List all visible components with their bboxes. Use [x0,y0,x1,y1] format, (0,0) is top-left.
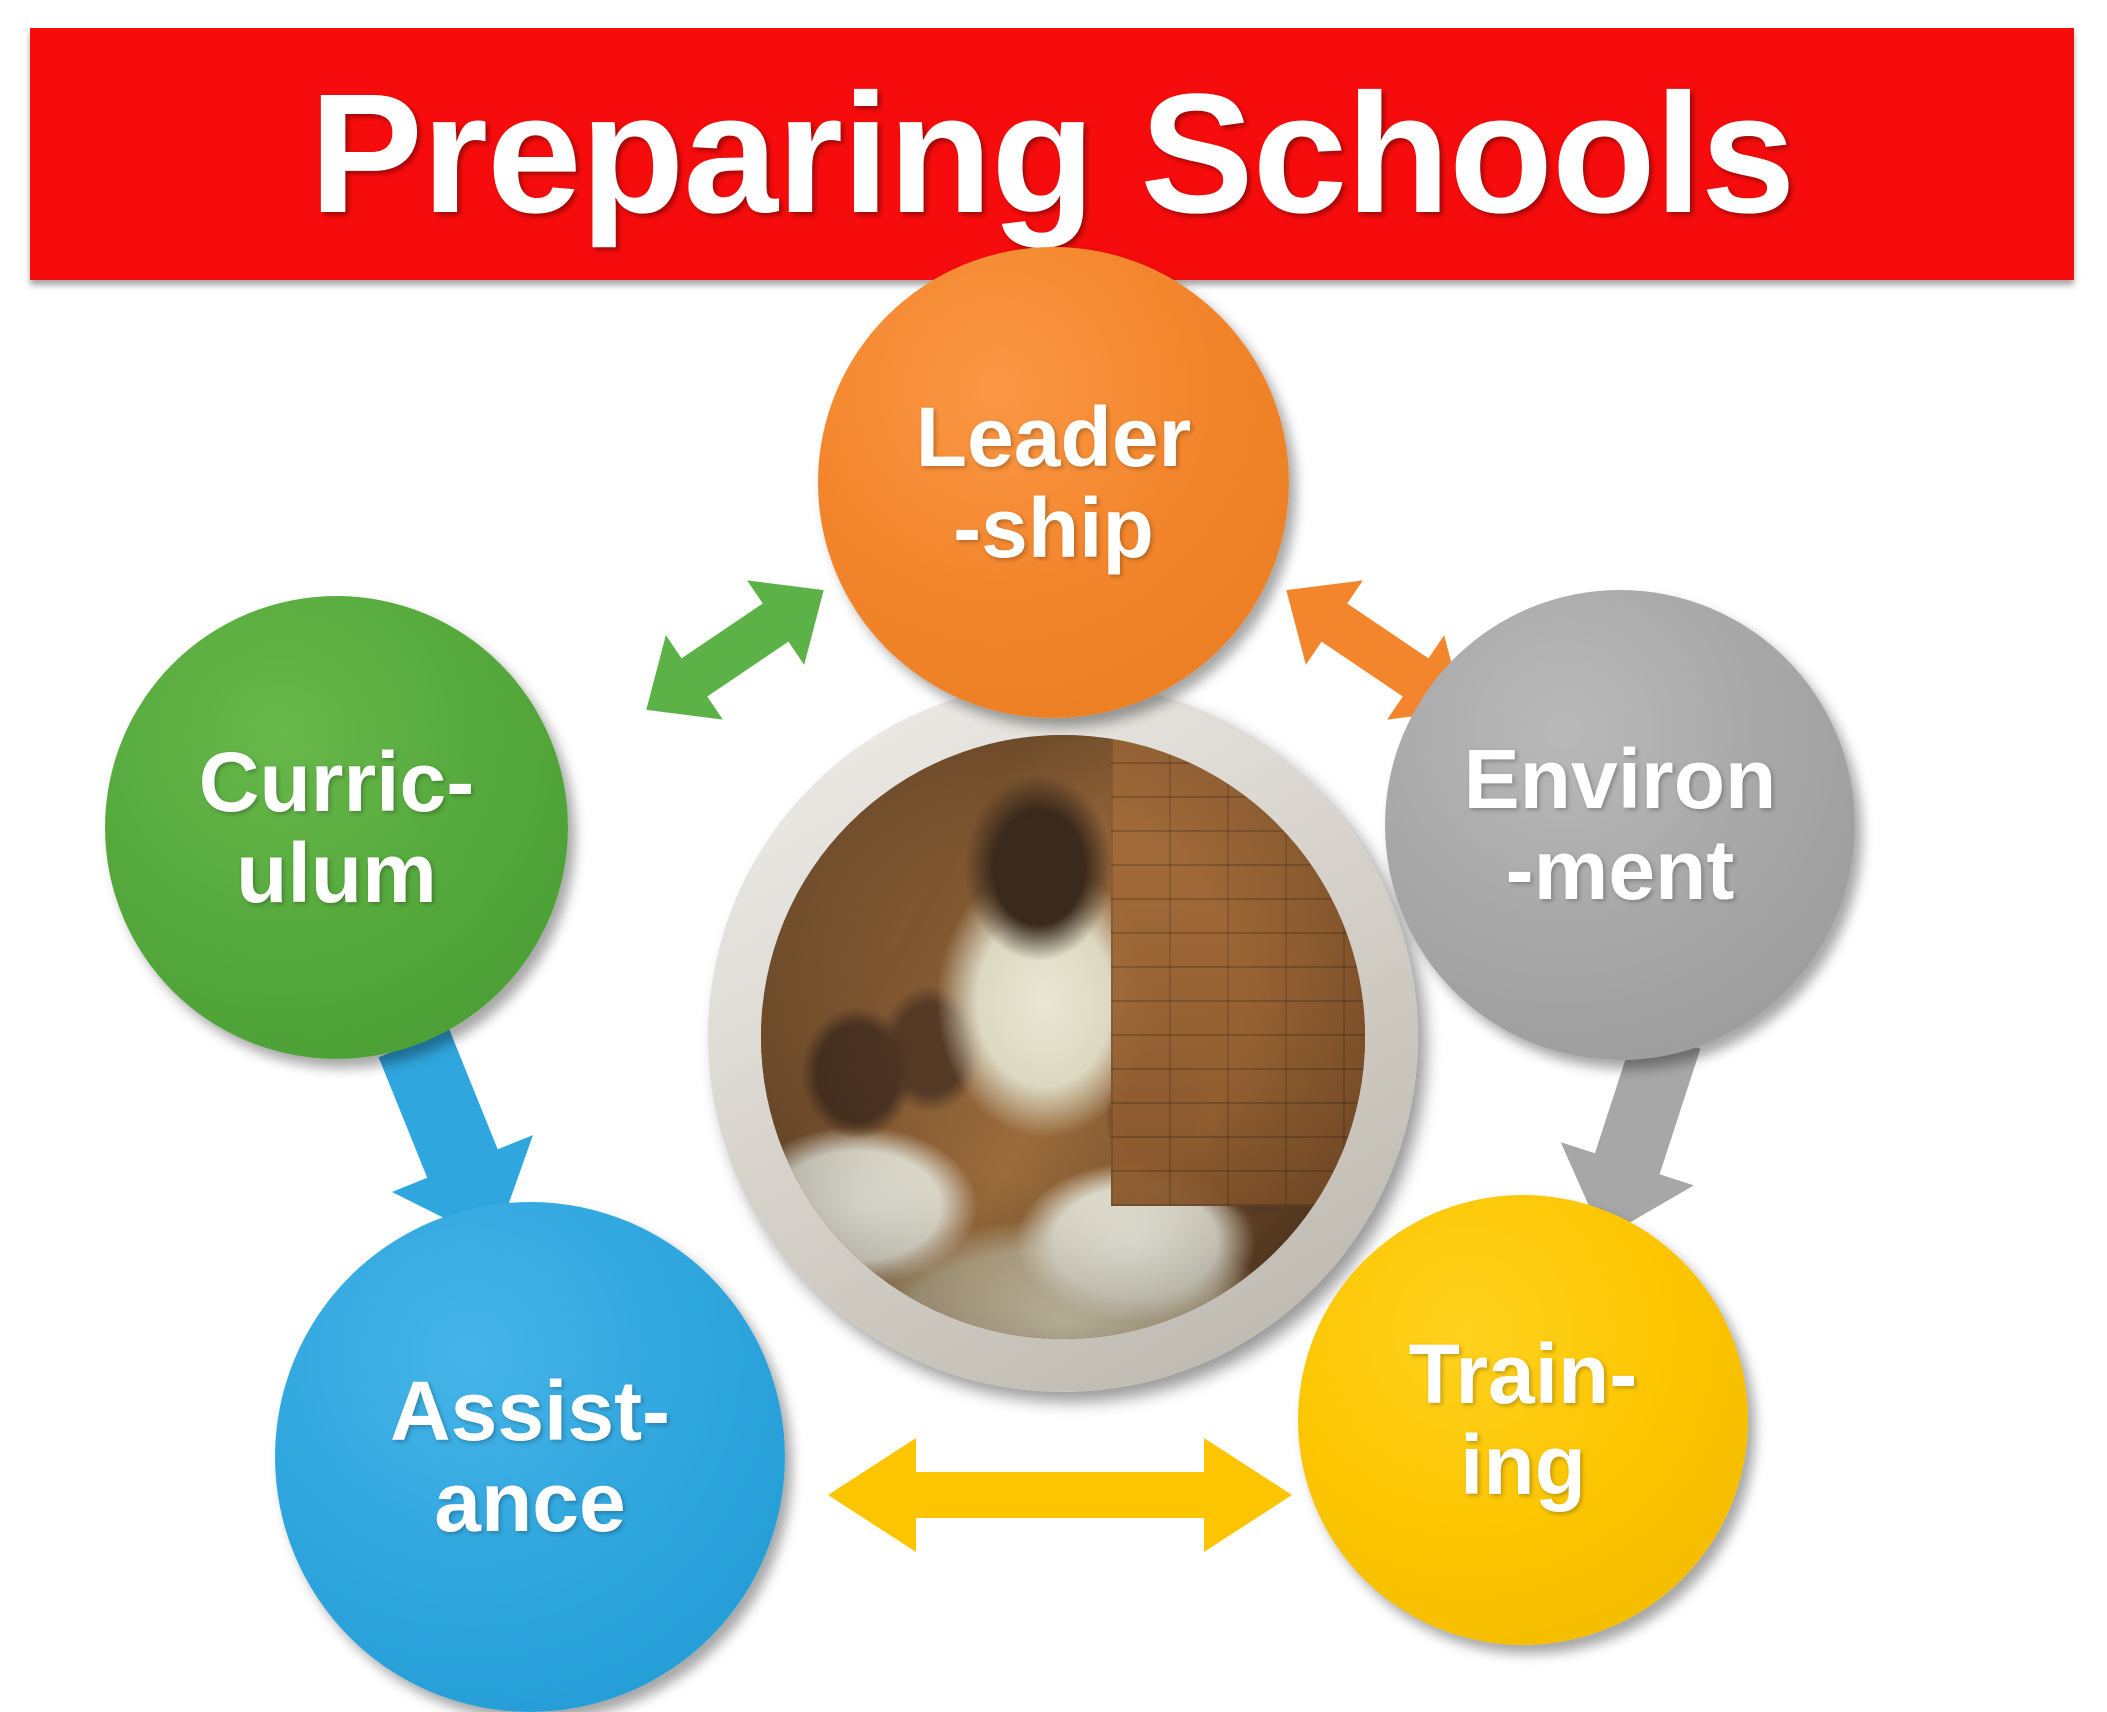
node-environment-label: Environ -ment [1456,734,1785,915]
node-environment[interactable]: Environ -ment [1385,590,1855,1060]
node-training[interactable]: Train- ing [1298,1195,1748,1645]
node-curriculum[interactable]: Curric- ulum [105,596,568,1059]
node-assistance-label: Assist- ance [382,1366,678,1547]
node-leadership[interactable]: Leader -ship [818,247,1289,718]
arrow-curriculum-leadership [600,565,870,735]
center-medallion [708,682,1418,1392]
diagram-stage: Leader -ship Curric- ulum Environ -ment … [0,270,2107,1709]
node-curriculum-label: Curric- ulum [191,737,482,918]
arrow-assistance-training [820,1430,1300,1560]
classroom-photo [761,735,1365,1339]
photo-vignette [761,735,1365,1339]
title-banner: Preparing Schools [30,28,2074,280]
node-assistance[interactable]: Assist- ance [275,1202,785,1712]
classroom-photo-image [761,735,1365,1339]
node-leadership-label: Leader -ship [908,392,1199,573]
page-title: Preparing Schools [309,69,1794,239]
node-training-label: Train- ing [1401,1329,1646,1510]
